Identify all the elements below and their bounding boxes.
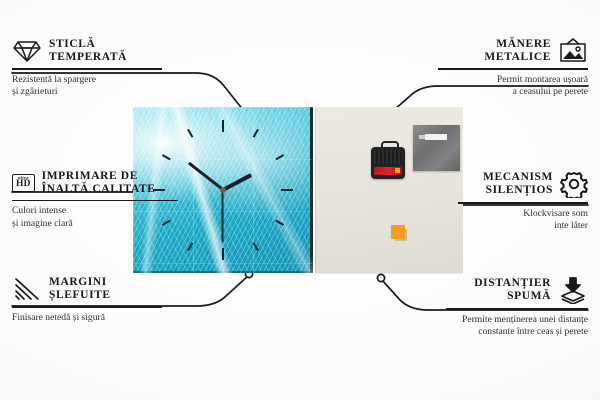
callout-rule bbox=[446, 308, 588, 310]
metal-hanger-plate bbox=[413, 125, 460, 171]
callout-description: Permite menținerea unei distanțe constan… bbox=[436, 314, 588, 339]
callout-title: MĂNERE METALICE bbox=[484, 38, 551, 64]
callout-description: Klockvisare som inte låter bbox=[448, 208, 588, 233]
picture-frame-hanger-icon bbox=[558, 38, 588, 64]
ultra-hd-badge-icon: ultra HD bbox=[12, 174, 35, 192]
clock-mechanism bbox=[371, 147, 405, 179]
gear-icon bbox=[560, 170, 588, 198]
hanger-slot bbox=[425, 134, 447, 140]
callout-margini-slefuite: MARGINI ȘLEFUITE Finisare netedă și sigu… bbox=[12, 276, 172, 324]
clock-tick bbox=[275, 220, 284, 226]
callout-header: ultra HD IMPRIMARE DE ÎNALTĂ CALITATE bbox=[12, 170, 188, 196]
callout-sticla-temperata: STICLĂ TEMPERATĂ Rezistentă la spargere … bbox=[12, 38, 172, 98]
polished-edge-icon bbox=[12, 276, 42, 302]
callout-description: Culori intense și imagine clară bbox=[12, 205, 188, 230]
callout-rule bbox=[12, 306, 162, 308]
callout-header: MECANISM SILENȚIOS bbox=[448, 170, 588, 198]
foam-spacer-arrow-icon bbox=[558, 276, 588, 304]
callout-rule bbox=[458, 202, 588, 204]
callout-title: STICLĂ TEMPERATĂ bbox=[49, 38, 127, 64]
clock-center-cap bbox=[220, 187, 226, 193]
clock-minute-hand bbox=[187, 162, 224, 191]
clock-tick bbox=[281, 189, 293, 191]
callout-rule bbox=[12, 68, 162, 70]
callout-description: Permit montarea ușoară a ceasului pe per… bbox=[428, 74, 588, 99]
callout-rule bbox=[12, 200, 178, 202]
callout-imprimare-hd: ultra HD IMPRIMARE DE ÎNALTĂ CALITATE Cu… bbox=[12, 170, 188, 230]
clock-tick bbox=[222, 248, 224, 260]
callout-manere-metalice: MĂNERE METALICE Permit montarea ușoară a… bbox=[428, 38, 588, 98]
infographic-canvas: STICLĂ TEMPERATĂ Rezistentă la spargere … bbox=[0, 0, 600, 400]
clock-tick bbox=[253, 129, 259, 138]
clock-tick bbox=[253, 242, 259, 251]
callout-header: MARGINI ȘLEFUITE bbox=[12, 276, 172, 302]
clock-back-panel bbox=[315, 107, 463, 273]
callout-header: STICLĂ TEMPERATĂ bbox=[12, 38, 172, 64]
callout-description: Finisare netedă și sigură bbox=[12, 312, 172, 324]
callout-rule bbox=[438, 68, 588, 70]
clock-second-hand bbox=[222, 190, 224, 242]
callout-mecanism-silentios: MECANISM SILENȚIOS Klockvisare som inte … bbox=[448, 170, 588, 232]
callout-header: DISTANȚIER SPUMĂ bbox=[436, 276, 588, 304]
callout-title: MARGINI ȘLEFUITE bbox=[49, 276, 111, 302]
clock-tick bbox=[187, 129, 193, 138]
callout-header: MĂNERE METALICE bbox=[428, 38, 588, 64]
clock-tick bbox=[275, 154, 284, 160]
callout-description: Rezistentă la spargere și zgârieturi bbox=[12, 74, 172, 99]
callout-title: IMPRIMARE DE ÎNALTĂ CALITATE bbox=[42, 170, 156, 196]
clock-tick bbox=[187, 242, 193, 251]
clock-tick bbox=[222, 120, 224, 132]
foam-spacer bbox=[391, 225, 405, 239]
callout-title: MECANISM SILENȚIOS bbox=[483, 171, 553, 197]
callout-title: DISTANȚIER SPUMĂ bbox=[474, 277, 551, 303]
battery bbox=[374, 167, 402, 175]
callout-distantier-spuma: DISTANȚIER SPUMĂ Permite menținerea unei… bbox=[436, 276, 588, 338]
clock-tick bbox=[162, 154, 171, 160]
clock-hour-hand bbox=[222, 173, 252, 192]
mechanism-body bbox=[374, 150, 402, 164]
connector-dot-6 bbox=[377, 274, 384, 281]
diamond-icon bbox=[12, 38, 42, 64]
